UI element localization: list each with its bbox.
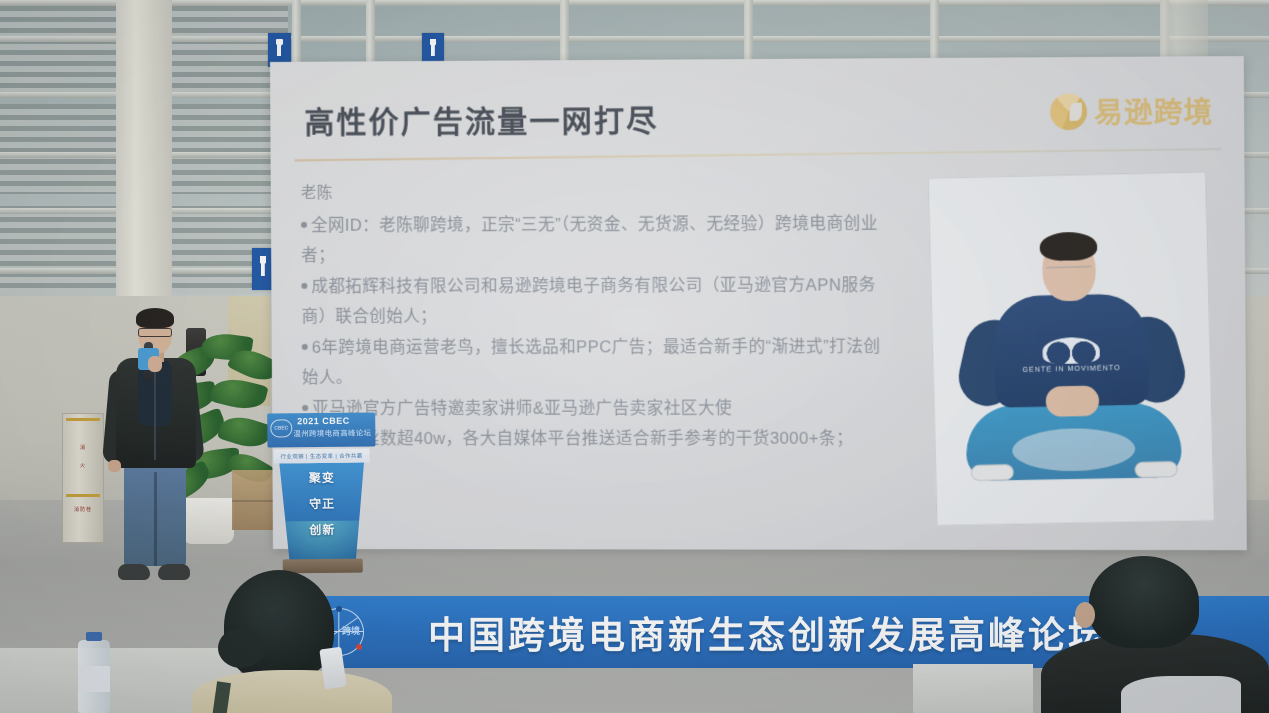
podium-header: CBEC 2021 CBEC 温州跨境电商高峰论坛 [267,412,375,447]
bullet-dot-icon [302,405,308,411]
bullet-item: 6年跨境电商运营老鸟，擅长选品和PPC广告；最适合新手的“渐进式”打法创始人。 [302,331,894,393]
brand-logo: 易逊跨境 [1050,91,1213,132]
bullet-dot-icon [301,283,307,289]
glasses-icon [138,328,172,337]
podium: CBEC 2021 CBEC 温州跨境电商高峰论坛 行业观察 | 生态变革 | … [267,412,377,575]
bullet-item: 全网ID：老陈聊跨境，正宗“三无”（无资金、无货源、无经验）跨境电商创业者； [301,208,893,271]
bullet-item: 亚马逊官方广告特邀卖家讲师&亚马逊广告卖家社区大使 [302,393,894,424]
title-divider [295,148,1222,162]
slide-body: 老陈 全网ID：老陈聊跨境，正宗“三无”（无资金、无货源、无经验）跨境电商创业者… [301,177,894,454]
podium-year-title: 2021 CBEC [297,416,350,427]
podium-strip: 行业观察 | 生态变革 | 合作共赢 [274,448,370,463]
water-bottle [78,640,110,713]
bullet-text: 成都拓辉科技有限公司和易逊跨境电子商务有限公司（亚马逊官方APN服务商）联合创始… [302,276,876,326]
audience-member-right [1013,556,1269,713]
brand-name: 易逊跨境 [1094,91,1213,132]
bullet-dot-icon [301,222,307,228]
yixun-circle-logo-icon [1050,93,1087,130]
kappa-logo-icon [1042,337,1100,364]
cbec-badge: CBEC [270,419,292,437]
screenshot-root: 消 火 消防栓 高性价广告流量一网打尽 易逊跨境 [0,0,1269,713]
banner-title: 中国跨境电商新生态创新发展高峰论坛 [428,605,1108,659]
podium-slogan: 聚变 守正 创新 [268,468,377,538]
slide-title: 高性价广告流量一网打尽 [304,96,658,142]
speaker-name: 老陈 [301,177,893,208]
podium-subtitle: 温州跨境电商高峰论坛 [293,427,371,439]
bullet-dot-icon [302,344,308,350]
audience-member-left [196,570,382,713]
smartphone [319,647,346,690]
slogan-word: 守正 [309,495,335,512]
bullet-text: 6年跨境电商运营老鸟，擅长选品和PPC广告；最适合新手的“渐进式”打法创始人。 [302,338,881,388]
glasses-icon [1046,266,1091,278]
speaker-portrait-photo: GENTE IN MOVIMENTO [928,171,1215,526]
bullet-item: 成都拓辉科技有限公司和易逊跨境电子商务有限公司（亚马逊官方APN服务商）联合创始… [301,270,893,333]
bullet-text: 全网粉丝数超40w，各大自媒体平台推送适合新手参考的干货3000+条； [312,430,853,448]
presentation-screen: 高性价广告流量一网打尽 易逊跨境 老陈 全网ID：老陈聊跨境，正宗“三无”（无资… [270,56,1247,550]
bullet-text: 全网ID：老陈聊跨境，正宗“三无”（无资金、无货源、无经验）跨境电商创业者； [301,214,878,265]
slogan-word: 创新 [309,521,335,538]
slogan-word: 聚变 [309,469,335,486]
presenter-person [92,312,202,594]
bullet-item: 全网粉丝数超40w，各大自媒体平台推送适合新手参考的干货3000+条； [302,424,894,455]
